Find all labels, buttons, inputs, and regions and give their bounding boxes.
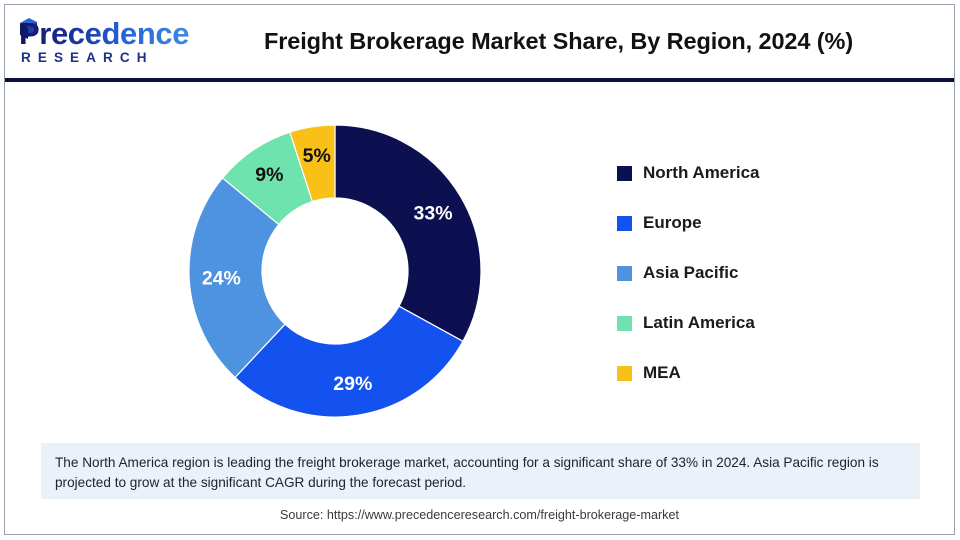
legend-swatch-icon xyxy=(617,266,632,281)
source-line: Source: https://www.precedenceresearch.c… xyxy=(5,508,954,522)
legend-item[interactable]: MEA xyxy=(617,348,917,398)
page-title: Freight Brokerage Market Share, By Regio… xyxy=(175,5,954,78)
legend-swatch-icon xyxy=(617,366,632,381)
legend-item-label: MEA xyxy=(643,363,681,383)
legend-item-label: North America xyxy=(643,163,760,183)
donut-slice-label: 5% xyxy=(303,145,331,167)
donut-chart: 33%29%24%9%5% xyxy=(187,123,483,419)
logo-wordmark: Precedence xyxy=(19,17,189,51)
donut-slice-label: 24% xyxy=(202,268,241,290)
caption-text: The North America region is leading the … xyxy=(55,453,906,492)
donut-slice-label: 9% xyxy=(255,164,283,186)
precedence-research-logo: Precedence RESEARCH xyxy=(13,15,178,69)
logo-subtitle: RESEARCH xyxy=(21,50,154,65)
legend-item-label: Asia Pacific xyxy=(643,263,738,283)
header: Precedence RESEARCH Freight Brokerage Ma… xyxy=(5,5,954,78)
donut-slice-label: 29% xyxy=(333,373,372,395)
caption-box: The North America region is leading the … xyxy=(41,443,920,499)
chart-body: 33%29%24%9%5% North AmericaEuropeAsia Pa… xyxy=(5,82,954,534)
legend-item-label: Latin America xyxy=(643,313,755,333)
legend-swatch-icon xyxy=(617,216,632,231)
legend-item[interactable]: North America xyxy=(617,148,917,198)
legend-item[interactable]: Latin America xyxy=(617,298,917,348)
donut-slice[interactable] xyxy=(335,125,481,341)
legend-item[interactable]: Europe xyxy=(617,198,917,248)
legend: North AmericaEuropeAsia PacificLatin Ame… xyxy=(617,148,917,398)
donut-slice-label: 33% xyxy=(414,203,453,225)
legend-item-label: Europe xyxy=(643,213,702,233)
legend-swatch-icon xyxy=(617,316,632,331)
legend-swatch-icon xyxy=(617,166,632,181)
donut-chart-svg: 33%29%24%9%5% xyxy=(187,123,483,419)
legend-item[interactable]: Asia Pacific xyxy=(617,248,917,298)
chart-frame: Precedence RESEARCH Freight Brokerage Ma… xyxy=(4,4,955,535)
